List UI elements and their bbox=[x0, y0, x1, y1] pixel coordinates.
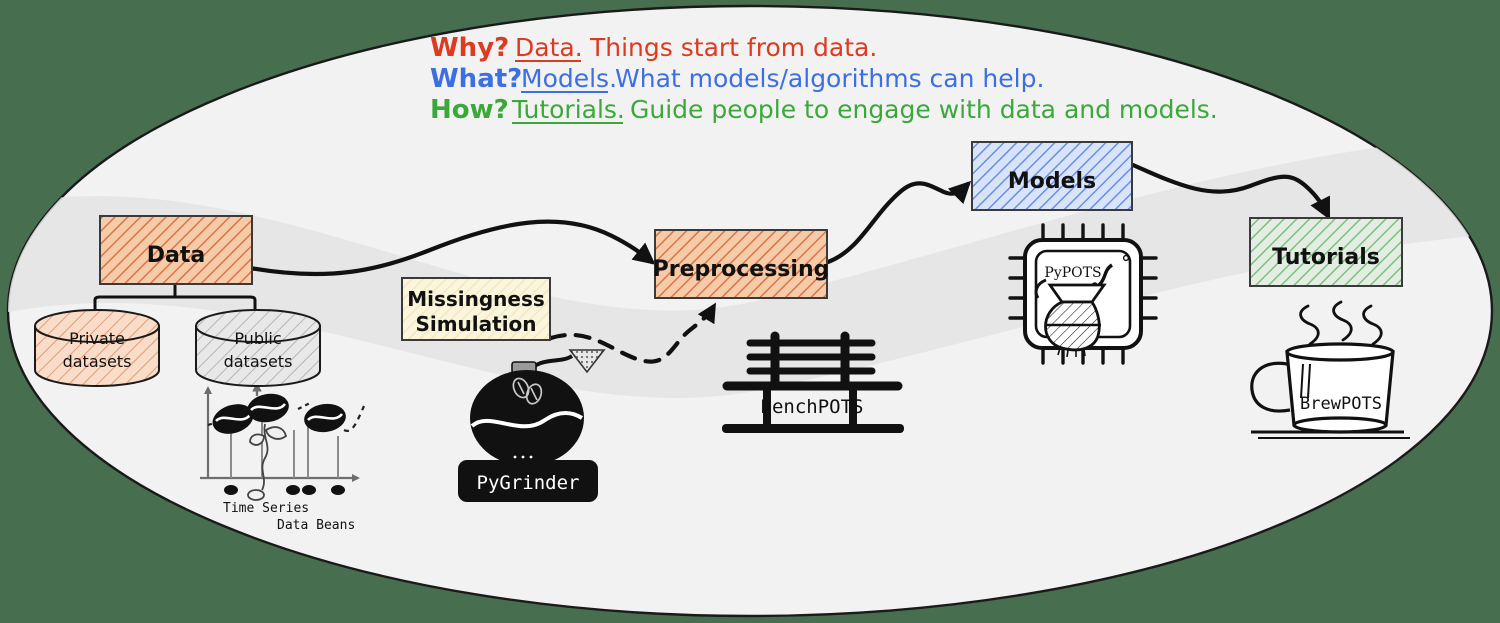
mug-rim bbox=[1287, 344, 1393, 360]
header-question-0: Why? bbox=[430, 33, 509, 63]
header-desc-1: What models/algorithms can help. bbox=[615, 64, 1044, 93]
benchpots-label: BenchPOTS bbox=[761, 396, 864, 418]
plot-caption-2: Data Beans bbox=[277, 518, 355, 533]
diagram-canvas: Why? Data. Things start from data. What?… bbox=[0, 0, 1500, 623]
header-term-0: Data. bbox=[515, 33, 583, 62]
box-missingness-label-1: Missingness bbox=[407, 287, 545, 311]
header-term-1: Models. bbox=[521, 64, 617, 93]
brewpots-label: BrewPOTS bbox=[1300, 394, 1382, 414]
cylinder-private-label-1: Private bbox=[69, 329, 125, 348]
header-desc-2: Guide people to engage with data and mod… bbox=[630, 95, 1218, 124]
box-models-label: Models bbox=[1008, 169, 1096, 194]
bench-ground-bar bbox=[722, 424, 904, 433]
box-data[interactable]: Data bbox=[100, 216, 252, 284]
cylinder-public-label-1: Public bbox=[234, 329, 281, 348]
box-data-label: Data bbox=[147, 243, 205, 268]
box-missingness-label-2: Simulation bbox=[415, 312, 536, 336]
box-tutorials[interactable]: Tutorials bbox=[1250, 218, 1402, 286]
header-term-2: Tutorials. bbox=[511, 95, 625, 124]
mug-body bbox=[1287, 352, 1393, 425]
header-line-2: How? Tutorials. Guide people to engage w… bbox=[430, 95, 1218, 125]
box-preprocessing[interactable]: Preprocessing bbox=[653, 230, 830, 298]
box-missingness-simulation[interactable]: Missingness Simulation bbox=[402, 278, 550, 340]
cylinder-public-label-2: datasets bbox=[224, 352, 293, 371]
header-question-2: How? bbox=[430, 95, 509, 125]
cylinder-private-label-2: datasets bbox=[63, 352, 132, 371]
header-question-1: What? bbox=[430, 64, 522, 94]
mug-base bbox=[1294, 418, 1386, 432]
header-desc-0: Things start from data. bbox=[589, 33, 877, 62]
box-tutorials-label: Tutorials bbox=[1272, 245, 1380, 270]
cylinder-public-datasets: Public datasets bbox=[196, 310, 320, 386]
box-models[interactable]: Models bbox=[972, 142, 1132, 210]
header-line-0: Why? Data. Things start from data. bbox=[430, 33, 877, 63]
cylinder-private-datasets: Private datasets bbox=[35, 310, 159, 386]
pygrinder-label: PyGrinder bbox=[477, 472, 580, 494]
pypots-label: PyPOTS bbox=[1044, 265, 1101, 281]
header-line-1: What? Models. What models/algorithms can… bbox=[430, 64, 1044, 94]
pypots-logo: PyPOTS bbox=[1010, 225, 1156, 363]
box-preprocessing-label: Preprocessing bbox=[653, 257, 830, 282]
plot-caption-1: Time Series bbox=[223, 501, 309, 516]
